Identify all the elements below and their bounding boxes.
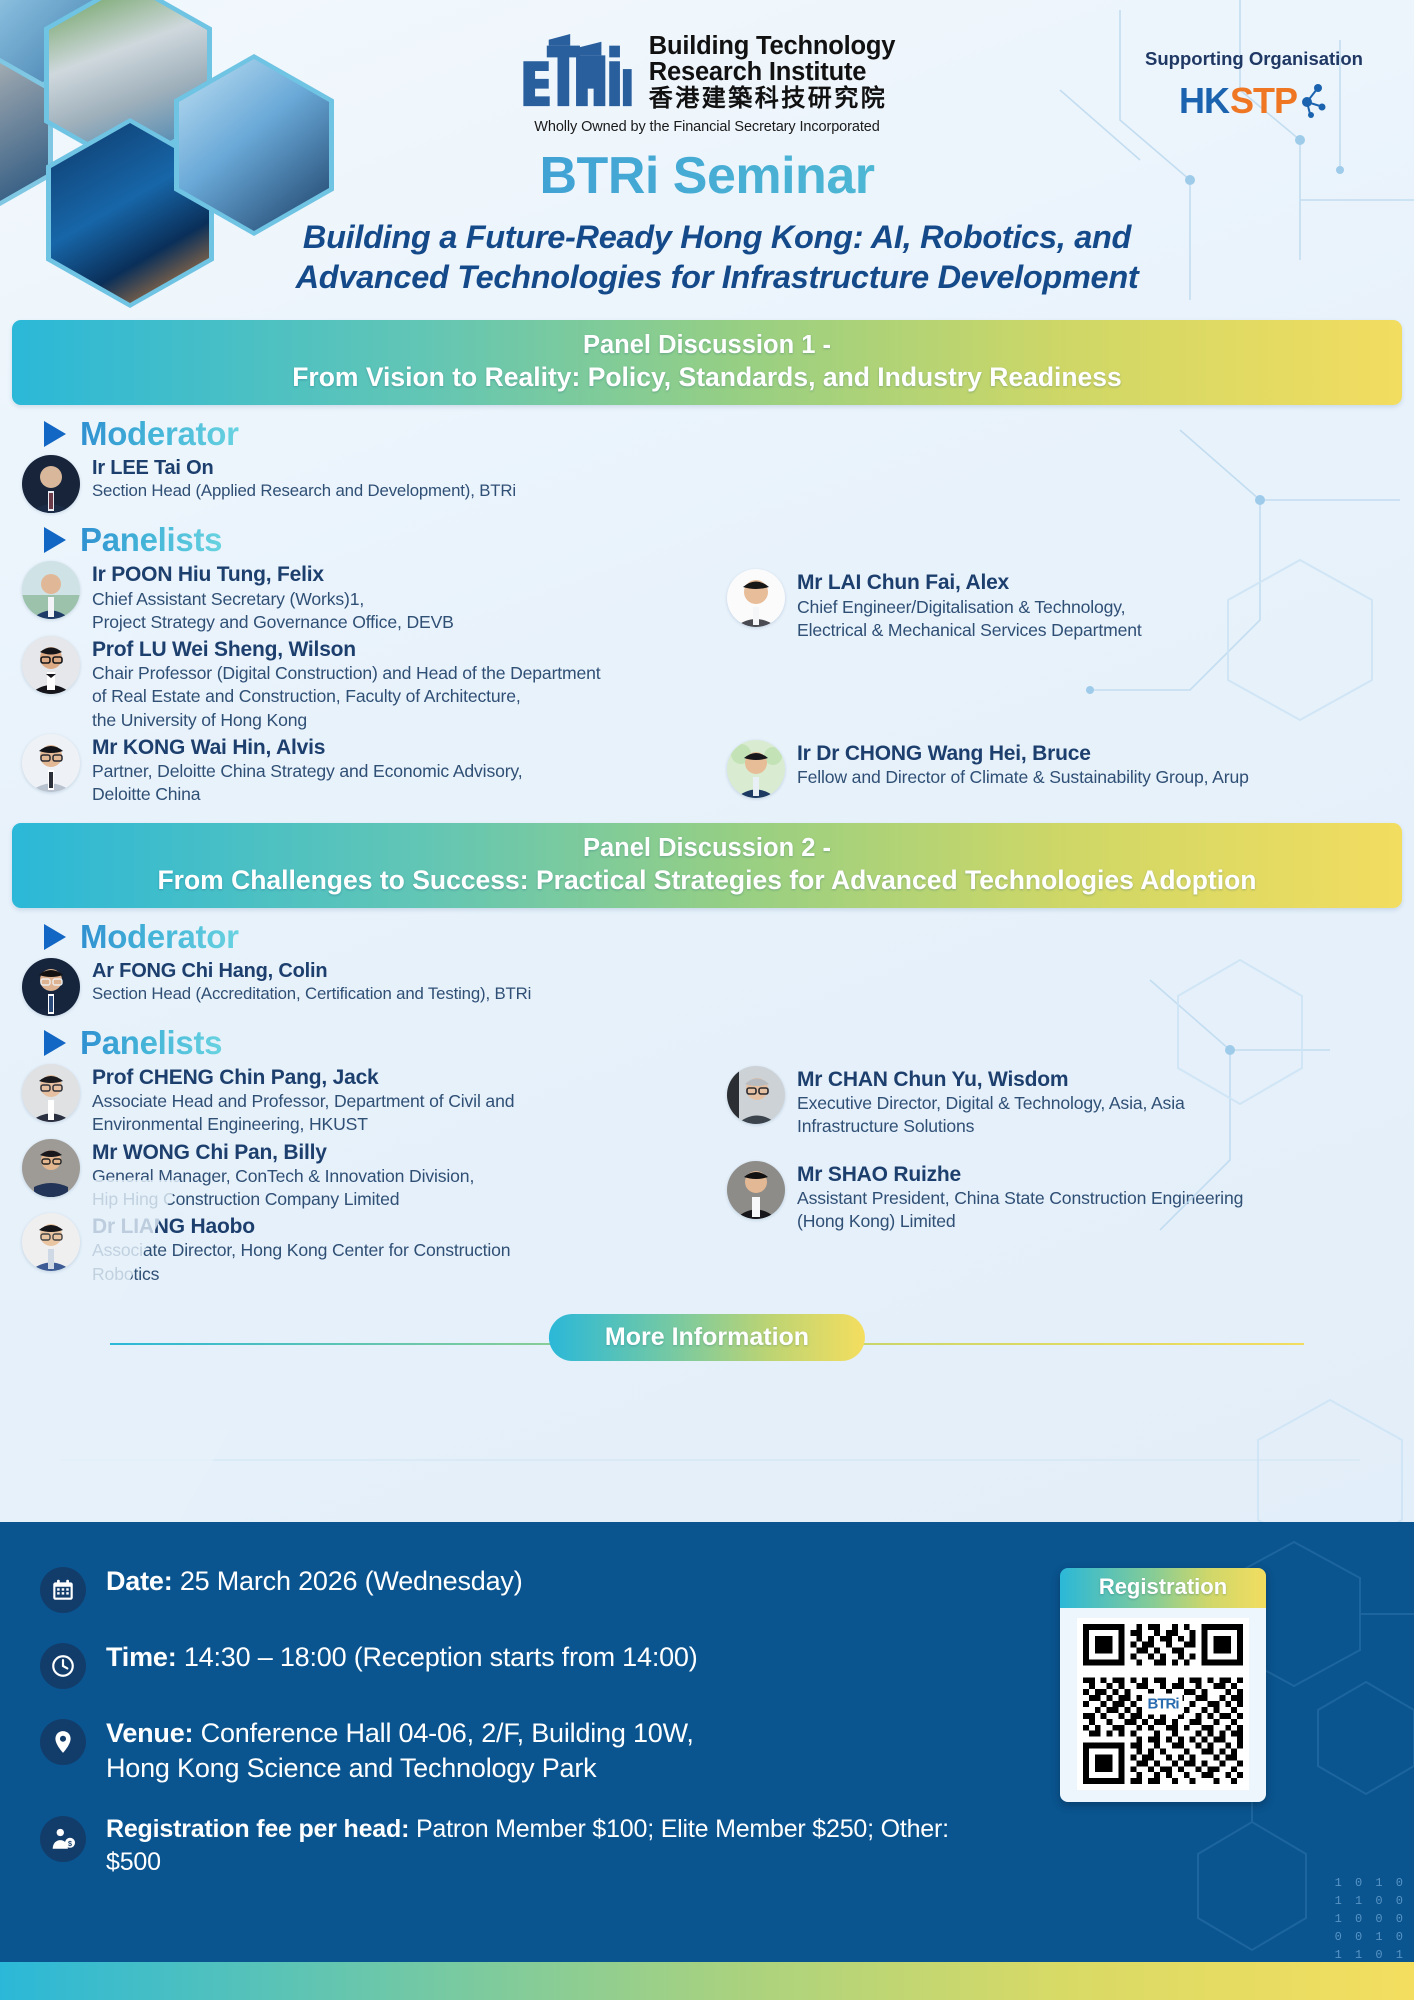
arrow-right-icon bbox=[44, 527, 66, 553]
detail-text-date: Date: 25 March 2026 (Wednesday) bbox=[106, 1564, 523, 1599]
avatar bbox=[22, 1064, 80, 1122]
person-name: Mr WONG Chi Pan, Billy bbox=[92, 1140, 474, 1165]
panel-2-banner-line-1: Panel Discussion 2 - bbox=[32, 833, 1382, 864]
seminar-poster: Building Technology Research Institute 香… bbox=[0, 0, 1414, 2000]
arrow-right-icon bbox=[44, 421, 66, 447]
person-name: Mr CHAN Chun Yu, Wisdom bbox=[797, 1067, 1185, 1092]
person-title: Partner, Deloitte China Strategy and Eco… bbox=[92, 760, 523, 806]
clock-icon bbox=[40, 1643, 86, 1689]
person-title: General Manager, ConTech & Innovation Di… bbox=[92, 1165, 474, 1211]
panel-1-banner-line-2: From Vision to Reality: Policy, Standard… bbox=[32, 361, 1382, 393]
panel-2-panelists-left-column: Prof CHENG Chin Pang, Jack Associate Hea… bbox=[0, 1064, 707, 1288]
person-card: Ar FONG Chi Hang, Colin Section Head (Ac… bbox=[22, 958, 707, 1016]
person-card: Mr CHAN Chun Yu, Wisdom Executive Direct… bbox=[715, 1066, 1414, 1139]
footer-gradient-stripe bbox=[0, 1962, 1414, 2000]
time-label: Time: bbox=[106, 1642, 177, 1672]
person-title: Assistant President, China State Constru… bbox=[797, 1187, 1243, 1233]
panel-2-banner: Panel Discussion 2 - From Challenges to … bbox=[12, 823, 1402, 908]
more-information-divider: More Information bbox=[0, 1314, 1414, 1372]
calendar-icon bbox=[40, 1567, 86, 1613]
logo-line-2: Research Institute bbox=[649, 59, 895, 86]
avatar-photo-icon bbox=[727, 1066, 785, 1124]
hkstp-logo: HK STP bbox=[1124, 80, 1384, 122]
person-card: Mr KONG Wai Hin, Alvis Partner, Deloitte… bbox=[22, 734, 707, 807]
panel-1-panelists: Ir POON Hiu Tung, Felix Chief Assistant … bbox=[0, 561, 1414, 808]
person-title: Executive Director, Digital & Technology… bbox=[797, 1092, 1185, 1138]
avatar bbox=[727, 740, 785, 798]
person-card: Mr WONG Chi Pan, Billy General Manager, … bbox=[22, 1139, 707, 1212]
panel-1-moderator-row: Ir LEE Tai On Section Head (Applied Rese… bbox=[0, 455, 1414, 515]
panel-2-panelists-heading: Panelists bbox=[0, 1018, 1414, 1064]
person-name: Mr KONG Wai Hin, Alvis bbox=[92, 735, 523, 760]
panel-2-panelists-label: Panelists bbox=[80, 1024, 222, 1062]
avatar bbox=[22, 561, 80, 619]
registration-card[interactable]: Registration bbox=[1060, 1568, 1266, 1802]
avatar bbox=[727, 569, 785, 627]
panel-2-moderator-heading: Moderator bbox=[0, 908, 1414, 958]
panel-2-panelists-right-column: Mr CHAN Chun Yu, Wisdom Executive Direct… bbox=[707, 1064, 1414, 1288]
venue-value: Conference Hall 04-06, 2/F, Building 10W… bbox=[106, 1718, 694, 1783]
person-name: Ir POON Hiu Tung, Felix bbox=[92, 562, 454, 587]
detail-row-fee: $ Registration fee per head: Patron Memb… bbox=[40, 1813, 960, 1878]
avatar bbox=[22, 455, 80, 513]
avatar bbox=[22, 636, 80, 694]
avatar bbox=[22, 958, 80, 1016]
person-name: Ir Dr CHONG Wang Hei, Bruce bbox=[797, 741, 1249, 766]
person-title: Associate Director, Hong Kong Center for… bbox=[92, 1239, 510, 1285]
panel-1-moderator-heading: Moderator bbox=[0, 405, 1414, 455]
avatar bbox=[22, 1139, 80, 1197]
btri-logo-icon bbox=[519, 32, 637, 112]
person-title: Fellow and Director of Climate & Sustain… bbox=[797, 766, 1249, 789]
avatar bbox=[22, 1213, 80, 1271]
event-details-list: Date: 25 March 2026 (Wednesday) Time: 14… bbox=[0, 1522, 960, 1878]
seminar-subtitle-line-1: Building a Future-Ready Hong Kong: AI, R… bbox=[130, 218, 1304, 258]
registration-header: Registration bbox=[1060, 1568, 1266, 1608]
panel-2-moderator-label: Moderator bbox=[80, 918, 239, 956]
avatar bbox=[727, 1161, 785, 1219]
fee-person-icon: $ bbox=[40, 1816, 86, 1862]
person-card: Prof CHENG Chin Pang, Jack Associate Hea… bbox=[22, 1064, 707, 1137]
registration-body: BTRi bbox=[1060, 1608, 1266, 1802]
hkstp-logo-stp: STP bbox=[1230, 80, 1297, 122]
person-card: Mr SHAO Ruizhe Assistant President, Chin… bbox=[715, 1161, 1414, 1234]
avatar-photo-icon bbox=[22, 1213, 80, 1271]
panel-2-banner-line-2: From Challenges to Success: Practical St… bbox=[32, 864, 1382, 896]
hkstp-node-icon bbox=[1295, 80, 1329, 118]
person-name: Prof LU Wei Sheng, Wilson bbox=[92, 637, 601, 662]
person-title: Chief Engineer/Digitalisation & Technolo… bbox=[797, 596, 1142, 642]
seminar-subtitle-line-2: Advanced Technologies for Infrastructure… bbox=[130, 258, 1304, 298]
panel-2-moderator-row: Ar FONG Chi Hang, Colin Section Head (Ac… bbox=[0, 958, 1414, 1018]
event-details-section: 1 0 1 01 1 0 01 0 0 00 0 1 01 1 0 10 1 1… bbox=[0, 1522, 1414, 2000]
avatar-photo-icon bbox=[727, 1161, 785, 1219]
panel-1-moderator-label: Moderator bbox=[80, 415, 239, 453]
btri-logo-block: Building Technology Research Institute 香… bbox=[492, 32, 922, 135]
person-title: Section Head (Applied Research and Devel… bbox=[92, 480, 516, 502]
qr-center-logo: BTRi bbox=[1144, 1694, 1183, 1715]
panel-1-banner: Panel Discussion 1 - From Vision to Real… bbox=[12, 320, 1402, 405]
person-name: Ar FONG Chi Hang, Colin bbox=[92, 959, 531, 983]
person-card: Dr LIANG Haobo Associate Director, Hong … bbox=[22, 1213, 707, 1286]
person-card: Mr LAI Chun Fai, Alex Chief Engineer/Dig… bbox=[715, 569, 1414, 642]
person-card: Ir Dr CHONG Wang Hei, Bruce Fellow and D… bbox=[715, 740, 1414, 798]
person-name: Dr LIANG Haobo bbox=[92, 1214, 510, 1239]
detail-row-date: Date: 25 March 2026 (Wednesday) bbox=[40, 1564, 960, 1613]
person-title: Associate Head and Professor, Department… bbox=[92, 1090, 514, 1136]
avatar-photo-icon bbox=[22, 561, 80, 619]
panel-1-panelists-left-column: Ir POON Hiu Tung, Felix Chief Assistant … bbox=[0, 561, 707, 808]
supporting-organisation: Supporting Organisation HK STP bbox=[1124, 48, 1384, 122]
detail-text-fee: Registration fee per head: Patron Member… bbox=[106, 1813, 960, 1878]
logo-tagline: Wholly Owned by the Financial Secretary … bbox=[534, 119, 879, 135]
avatar bbox=[22, 734, 80, 792]
person-name: Mr SHAO Ruizhe bbox=[797, 1162, 1243, 1187]
avatar-photo-icon bbox=[22, 1064, 80, 1122]
logo-line-1: Building Technology bbox=[649, 33, 895, 60]
detail-row-venue: Venue: Conference Hall 04-06, 2/F, Build… bbox=[40, 1716, 960, 1786]
person-name: Ir LEE Tai On bbox=[92, 456, 516, 480]
avatar-photo-icon bbox=[22, 455, 80, 513]
panel-1-panelists-label: Panelists bbox=[80, 521, 222, 559]
person-title: Chief Assistant Secretary (Works)1, Proj… bbox=[92, 588, 454, 634]
time-value: 14:30 – 18:00 (Reception starts from 14:… bbox=[184, 1642, 698, 1672]
detail-text-venue: Venue: Conference Hall 04-06, 2/F, Build… bbox=[106, 1716, 694, 1786]
person-card: Ir POON Hiu Tung, Felix Chief Assistant … bbox=[22, 561, 707, 634]
more-information-pill: More Information bbox=[549, 1314, 865, 1361]
avatar-photo-icon bbox=[727, 740, 785, 798]
registration-qr-code[interactable]: BTRi bbox=[1077, 1618, 1249, 1790]
panel-1-panelists-heading: Panelists bbox=[0, 515, 1414, 561]
panel-1-banner-line-1: Panel Discussion 1 - bbox=[32, 330, 1382, 361]
poster-header: Building Technology Research Institute 香… bbox=[0, 0, 1414, 320]
seminar-subtitle: Building a Future-Ready Hong Kong: AI, R… bbox=[130, 218, 1304, 297]
avatar-photo-icon bbox=[727, 569, 785, 627]
venue-label: Venue: bbox=[106, 1718, 193, 1748]
arrow-right-icon bbox=[44, 924, 66, 950]
fee-label: Registration fee per head: bbox=[106, 1815, 409, 1843]
avatar-photo-icon bbox=[22, 1139, 80, 1197]
supporting-organisation-label: Supporting Organisation bbox=[1124, 48, 1384, 70]
hkstp-logo-hk: HK bbox=[1179, 80, 1229, 122]
person-title: Chair Professor (Digital Construction) a… bbox=[92, 662, 601, 732]
date-label: Date: bbox=[106, 1566, 173, 1596]
detail-row-time: Time: 14:30 – 18:00 (Reception starts fr… bbox=[40, 1640, 960, 1689]
logo-line-chinese: 香港建築科技研究院 bbox=[649, 86, 895, 111]
arrow-right-icon bbox=[44, 1030, 66, 1056]
detail-text-time: Time: 14:30 – 18:00 (Reception starts fr… bbox=[106, 1640, 698, 1675]
svg-text:$: $ bbox=[68, 1840, 72, 1848]
avatar bbox=[727, 1066, 785, 1124]
avatar-photo-icon bbox=[22, 958, 80, 1016]
date-value: 25 March 2026 (Wednesday) bbox=[180, 1566, 523, 1596]
avatar-photo-icon bbox=[22, 636, 80, 694]
page-title: BTRi Seminar bbox=[0, 146, 1414, 206]
person-card: Ir LEE Tai On Section Head (Applied Rese… bbox=[22, 455, 707, 513]
panel-1-panelists-right-column: Mr LAI Chun Fai, Alex Chief Engineer/Dig… bbox=[707, 561, 1414, 808]
panel-2-panelists: Prof CHENG Chin Pang, Jack Associate Hea… bbox=[0, 1064, 1414, 1288]
person-title: Section Head (Accreditation, Certificati… bbox=[92, 983, 531, 1005]
person-name: Prof CHENG Chin Pang, Jack bbox=[92, 1065, 514, 1090]
person-card: Prof LU Wei Sheng, Wilson Chair Professo… bbox=[22, 636, 707, 732]
person-name: Mr LAI Chun Fai, Alex bbox=[797, 570, 1142, 595]
location-pin-icon bbox=[40, 1719, 86, 1765]
avatar-photo-icon bbox=[22, 734, 80, 792]
